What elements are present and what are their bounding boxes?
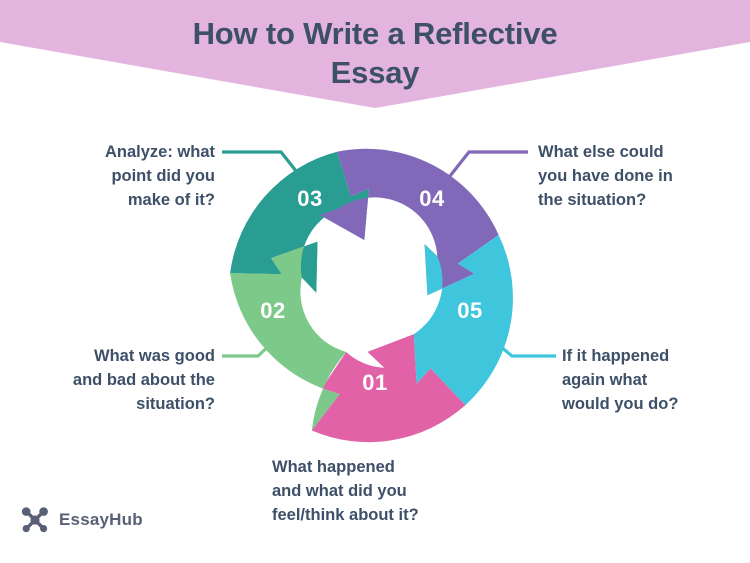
connector-03 [222, 152, 300, 176]
callout-label-02: What was good and bad about the situatio… [48, 344, 215, 416]
callout-label-01: What happened and what did you feel/thin… [272, 455, 502, 527]
cycle-segment-05-number: 05 [457, 298, 482, 323]
cycle-segment-03-number: 03 [297, 186, 322, 211]
brand-logo-text: EssayHub [59, 510, 143, 530]
callout-label-05: If it happened again what would you do? [562, 344, 732, 416]
molecule-nodes-icon [20, 505, 50, 535]
brand-logo[interactable]: EssayHub [20, 505, 143, 535]
callout-label-04: What else could you have done in the sit… [538, 140, 718, 212]
cycle-segment-01-number: 01 [362, 370, 387, 395]
cycle-segment-02-number: 02 [260, 298, 285, 323]
cycle-segment-04-shape[interactable] [320, 149, 499, 295]
connector-04 [450, 152, 528, 176]
callout-label-03: Analyze: what point did you make of it? [48, 140, 215, 212]
cycle-segment-04-number: 04 [419, 186, 445, 211]
cycle-segment-04[interactable] [320, 149, 499, 295]
